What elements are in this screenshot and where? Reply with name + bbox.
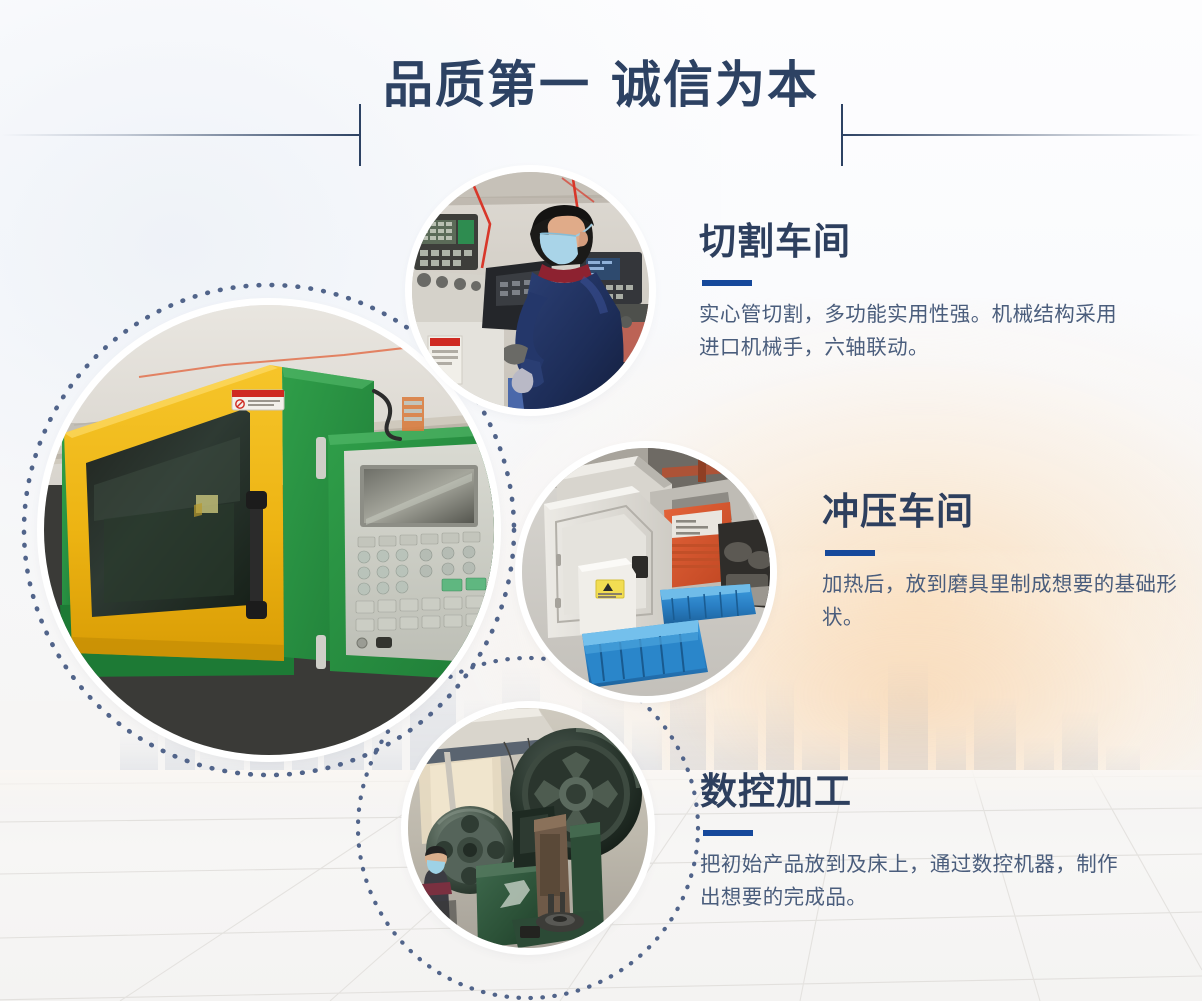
cnc-lathe-operator-illustration: 40	[412, 172, 649, 409]
section-heading-cnc: 数控加工	[700, 769, 1120, 815]
svg-text:40: 40	[428, 385, 459, 409]
stamping-machine-photo	[522, 448, 770, 696]
header-rule-right	[842, 134, 1202, 136]
section-accent-bar-stamping	[825, 550, 875, 556]
section-cnc-machining: 数控加工 把初始产品放到及床上，通过数控机器，制作出想要的完成品。	[700, 769, 1120, 914]
section-heading-cutting: 切割车间	[699, 219, 1129, 265]
section-accent-bar-cnc	[703, 830, 753, 836]
section-accent-bar-cutting	[702, 280, 752, 286]
section-description-cnc: 把初始产品放到及床上，通过数控机器，制作出想要的完成品。	[700, 848, 1120, 914]
punch-press-illustration	[408, 708, 648, 948]
section-cutting-workshop: 切割车间 实心管切割，多功能实用性强。机械结构采用进口机械手，六轴联动。	[699, 219, 1129, 364]
page-title-part2: 诚信为本	[611, 56, 819, 114]
section-heading-stamping: 冲压车间	[822, 489, 1182, 535]
section-description-stamping: 加热后，放到磨具里制成想要的基础形状。	[822, 568, 1182, 634]
section-description-cutting: 实心管切割，多功能实用性强。机械结构采用进口机械手，六轴联动。	[699, 298, 1129, 364]
punch-press-photo	[408, 708, 648, 948]
section-stamping-workshop: 冲压车间 加热后，放到磨具里制成想要的基础形状。	[822, 489, 1182, 634]
page-title: 品质第一诚信为本	[0, 50, 1202, 120]
cnc-lathe-operator-photo: 40	[412, 172, 649, 409]
header-rule-left	[0, 134, 360, 136]
factory-workshop-page: 品质第一诚信为本	[0, 0, 1202, 1001]
stamping-machine-illustration	[522, 448, 770, 696]
page-title-part1: 品质第一	[383, 56, 591, 114]
